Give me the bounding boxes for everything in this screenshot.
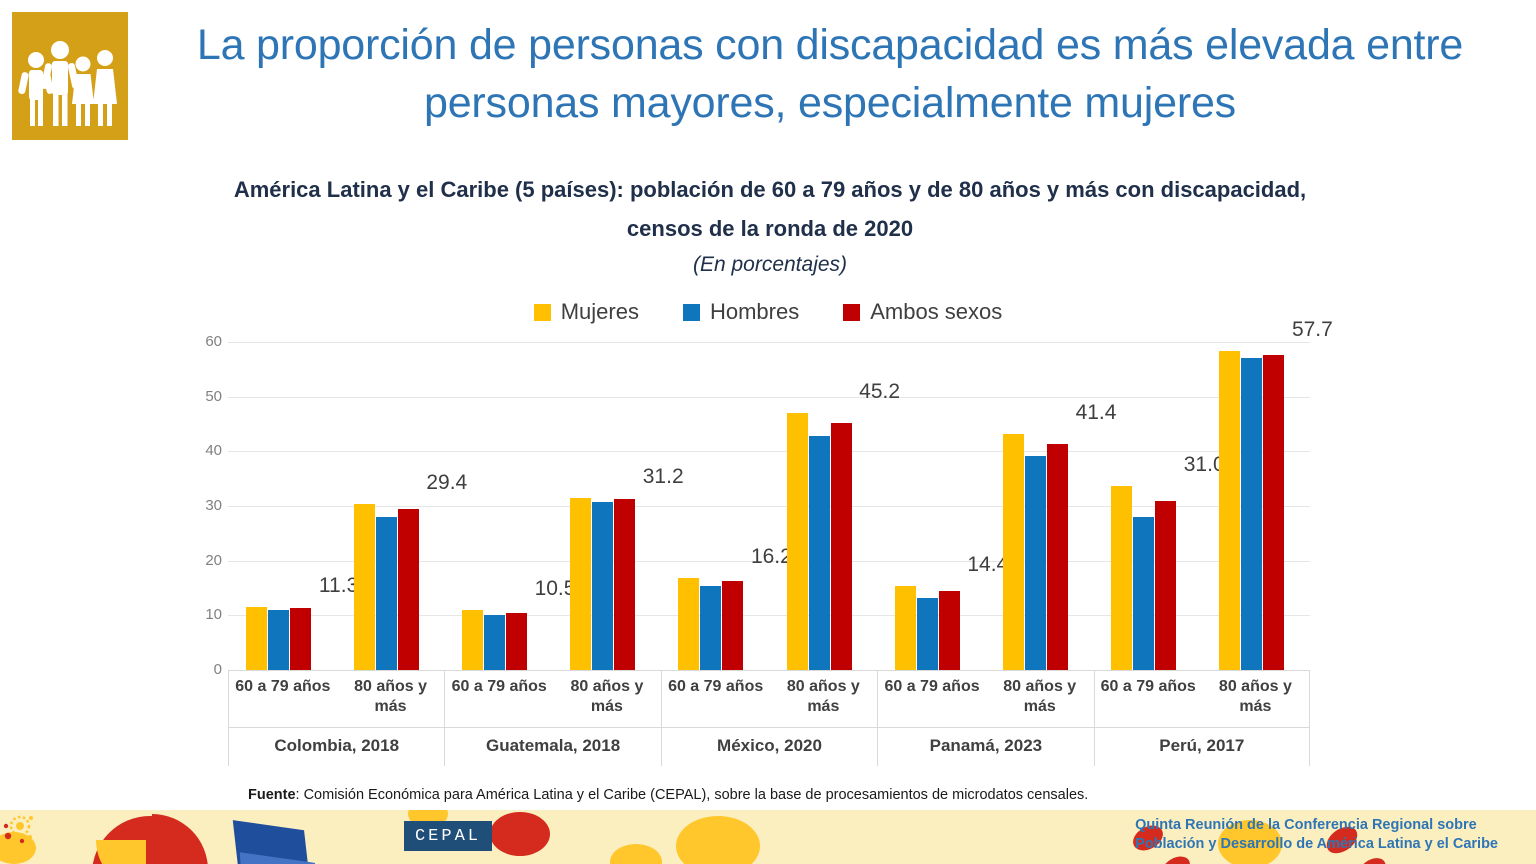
axis-group-3: 60 a 79 años80 años y másPanamá, 2023 bbox=[877, 671, 1093, 766]
bar-ambos-sexos[interactable] bbox=[1263, 355, 1284, 670]
bar-mujeres[interactable] bbox=[1219, 351, 1240, 670]
conference-title-line1: Quinta Reunión de la Conferencia Regiona… bbox=[1135, 816, 1498, 835]
legend-item-ambos-sexos[interactable]: Ambos sexos bbox=[843, 299, 1002, 325]
bar-hombres[interactable] bbox=[484, 615, 505, 670]
axis-age-label: 80 años y más bbox=[553, 671, 661, 727]
bar-mujeres[interactable] bbox=[462, 610, 483, 670]
legend-label-hombres: Hombres bbox=[710, 299, 799, 325]
bar-hombres[interactable] bbox=[376, 517, 397, 670]
people-group-icon bbox=[12, 12, 128, 140]
axis-country-label: México, 2020 bbox=[662, 727, 877, 765]
gridline bbox=[228, 397, 1310, 398]
chart-units-note: (En porcentajes) bbox=[120, 250, 1420, 280]
axis-country-label: Perú, 2017 bbox=[1095, 727, 1309, 765]
bar-ambos-sexos[interactable] bbox=[1047, 444, 1068, 670]
gridline bbox=[228, 451, 1310, 452]
bar-mujeres[interactable] bbox=[1111, 486, 1132, 670]
conference-emblem-icon bbox=[0, 810, 40, 848]
source-label: Fuente bbox=[248, 787, 296, 803]
chart-plot-area: 010203040506011.329.410.531.216.245.214.… bbox=[228, 342, 1310, 670]
bar-mujeres[interactable] bbox=[1003, 434, 1024, 670]
axis-age-label: 60 a 79 años bbox=[662, 671, 770, 727]
bar-ambos-sexos[interactable] bbox=[831, 423, 852, 670]
axis-age-row: 60 a 79 años80 años y más bbox=[229, 671, 444, 728]
bar-ambos-sexos[interactable] bbox=[722, 581, 743, 670]
axis-age-label: 60 a 79 años bbox=[445, 671, 553, 727]
bar-hombres[interactable] bbox=[1133, 517, 1154, 670]
bar-ambos-sexos[interactable] bbox=[290, 608, 311, 670]
legend-label-mujeres: Mujeres bbox=[561, 299, 639, 325]
bar-hombres[interactable] bbox=[1025, 456, 1046, 670]
bar-hombres[interactable] bbox=[592, 502, 613, 670]
bar-value-label: 45.2 bbox=[859, 380, 900, 404]
chart-subtitle-block: América Latina y el Caribe (5 países): p… bbox=[120, 170, 1420, 280]
axis-age-label: 60 a 79 años bbox=[229, 671, 337, 727]
axis-group-0: 60 a 79 años80 años y másColombia, 2018 bbox=[228, 671, 444, 766]
bar-mujeres[interactable] bbox=[570, 498, 591, 670]
axis-group-1: 60 a 79 años80 años y másGuatemala, 2018 bbox=[444, 671, 660, 766]
axis-age-row: 60 a 79 años80 años y más bbox=[1095, 671, 1309, 728]
bar-value-label: 41.4 bbox=[1076, 401, 1117, 425]
bar-ambos-sexos[interactable] bbox=[939, 591, 960, 670]
chart-subtitle-line2: censos de la ronda de 2020 bbox=[120, 209, 1420, 248]
gridline bbox=[228, 342, 1310, 343]
y-axis-tick-label: 50 bbox=[182, 388, 222, 405]
source-text: : Comisión Económica para América Latina… bbox=[296, 787, 1089, 803]
axis-age-label: 60 a 79 años bbox=[878, 671, 986, 727]
axis-age-label: 60 a 79 años bbox=[1095, 671, 1202, 727]
bar-mujeres[interactable] bbox=[246, 607, 267, 670]
axis-country-label: Guatemala, 2018 bbox=[445, 727, 660, 765]
gridline bbox=[228, 506, 1310, 507]
bar-value-label: 57.7 bbox=[1292, 318, 1333, 342]
y-axis-tick-label: 10 bbox=[182, 606, 222, 623]
legend-swatch-icon-hombres bbox=[683, 304, 700, 321]
footer-banner: CEPAL Quinta Reunión de la Conferencia R… bbox=[0, 810, 1536, 864]
y-axis-tick-label: 60 bbox=[182, 333, 222, 350]
y-axis-tick-label: 30 bbox=[182, 497, 222, 514]
axis-age-label: 80 años y más bbox=[986, 671, 1094, 727]
chart-subtitle-line1: América Latina y el Caribe (5 países): p… bbox=[120, 170, 1420, 209]
legend-swatch-icon-ambos-sexos bbox=[843, 304, 860, 321]
y-axis-tick-label: 0 bbox=[182, 661, 222, 678]
chart-category-axis: 60 a 79 años80 años y másColombia, 20186… bbox=[228, 670, 1310, 766]
page-title: La proporción de personas con discapacid… bbox=[140, 16, 1520, 132]
axis-age-row: 60 a 79 años80 años y más bbox=[445, 671, 660, 728]
bar-hombres[interactable] bbox=[809, 436, 830, 670]
bar-mujeres[interactable] bbox=[787, 413, 808, 670]
y-axis-tick-label: 40 bbox=[182, 442, 222, 459]
axis-group-4: 60 a 79 años80 años y másPerú, 2017 bbox=[1094, 671, 1310, 766]
axis-country-label: Colombia, 2018 bbox=[229, 727, 444, 765]
cepal-logo: CEPAL bbox=[404, 821, 492, 851]
bar-ambos-sexos[interactable] bbox=[398, 509, 419, 670]
bar-mujeres[interactable] bbox=[895, 586, 916, 670]
bar-ambos-sexos[interactable] bbox=[614, 499, 635, 670]
legend-item-mujeres[interactable]: Mujeres bbox=[534, 299, 639, 325]
axis-country-label: Panamá, 2023 bbox=[878, 727, 1093, 765]
axis-age-label: 80 años y más bbox=[337, 671, 445, 727]
conference-title: Quinta Reunión de la Conferencia Regiona… bbox=[1135, 816, 1498, 854]
bar-hombres[interactable] bbox=[700, 586, 721, 670]
axis-group-2: 60 a 79 años80 años y másMéxico, 2020 bbox=[661, 671, 877, 766]
axis-age-label: 80 años y más bbox=[1202, 671, 1309, 727]
legend-swatch-icon-mujeres bbox=[534, 304, 551, 321]
bar-hombres[interactable] bbox=[268, 610, 289, 670]
axis-age-row: 60 a 79 años80 años y más bbox=[662, 671, 877, 728]
slide-header: La proporción de personas con discapacid… bbox=[0, 0, 1536, 150]
bar-hombres[interactable] bbox=[1241, 358, 1262, 670]
bar-hombres[interactable] bbox=[917, 598, 938, 670]
bar-value-label: 11.3 bbox=[319, 574, 358, 598]
bar-value-label: 31.2 bbox=[643, 465, 684, 489]
axis-age-label: 80 años y más bbox=[770, 671, 878, 727]
bar-mujeres[interactable] bbox=[678, 578, 699, 670]
conference-title-line2: Población y Desarrollo de América Latina… bbox=[1135, 835, 1498, 854]
y-axis-tick-label: 20 bbox=[182, 552, 222, 569]
bar-mujeres[interactable] bbox=[354, 504, 375, 670]
bar-value-label: 29.4 bbox=[426, 471, 467, 495]
bar-chart: 010203040506011.329.410.531.216.245.214.… bbox=[188, 335, 1318, 765]
bar-ambos-sexos[interactable] bbox=[1155, 501, 1176, 670]
axis-age-row: 60 a 79 años80 años y más bbox=[878, 671, 1093, 728]
source-note: Fuente: Comisión Económica para América … bbox=[248, 787, 1088, 803]
legend-label-ambos-sexos: Ambos sexos bbox=[870, 299, 1002, 325]
legend-item-hombres[interactable]: Hombres bbox=[683, 299, 799, 325]
bar-ambos-sexos[interactable] bbox=[506, 613, 527, 670]
